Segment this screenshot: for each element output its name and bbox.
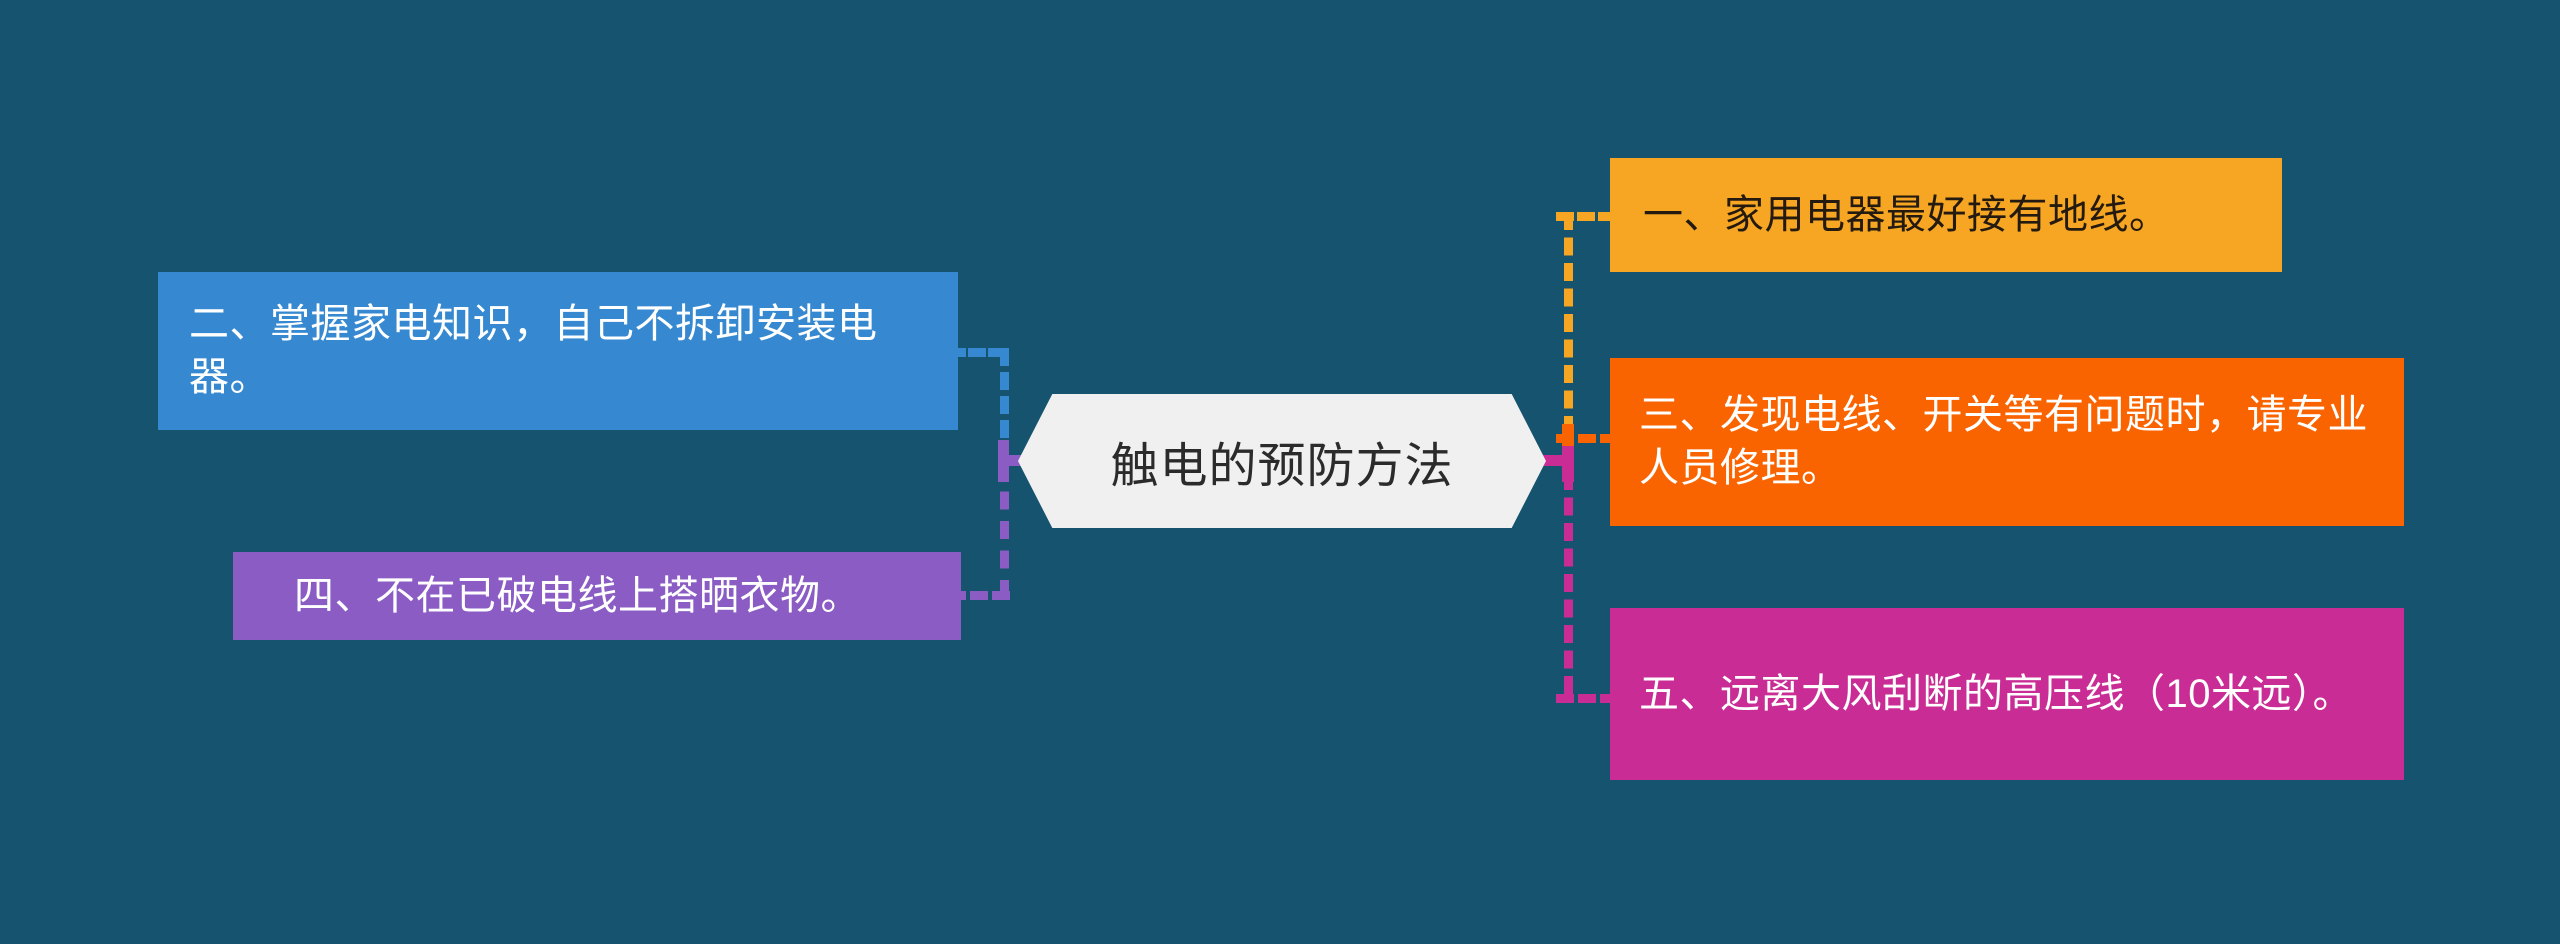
central-node-label: 触电的预防方法 xyxy=(1110,426,1453,496)
mindmap-canvas: 触电的预防方法 二、掌握家电知识，自己不拆卸安装电器。 四、不在已破电线上搭晒衣… xyxy=(0,0,2560,944)
connector-orange-horizontal xyxy=(1556,212,1616,221)
topic-label-orange: 一、家用电器最好接有地线。 xyxy=(1643,189,2257,242)
topic-box-orangered[interactable]: 三、发现电线、开关等有问题时，请专业人员修理。 xyxy=(1610,358,2404,526)
connector-orange-vertical xyxy=(1564,212,1573,434)
connector-magenta-horizontal xyxy=(1556,694,1618,703)
topic-label-blue: 二、掌握家电知识，自己不拆卸安装电器。 xyxy=(189,298,931,404)
central-node[interactable]: 触电的预防方法 xyxy=(1018,394,1546,528)
connector-purple-vertical xyxy=(1000,462,1009,598)
topic-box-orange[interactable]: 一、家用电器最好接有地线。 xyxy=(1610,158,2282,272)
topic-label-purple: 四、不在已破电线上搭晒衣物。 xyxy=(294,570,934,623)
connector-orange-trunk-cap xyxy=(1562,430,1574,446)
topic-box-blue[interactable]: 二、掌握家电知识，自己不拆卸安装电器。 xyxy=(158,272,958,430)
topic-label-magenta: 五、远离大风刮断的高压线（10米远）。 xyxy=(1639,668,2379,721)
topic-box-purple[interactable]: 四、不在已破电线上搭晒衣物。 xyxy=(233,552,961,640)
connector-magenta-vertical xyxy=(1564,472,1573,694)
topic-label-orangered: 三、发现电线、开关等有问题时，请专业人员修理。 xyxy=(1639,389,2379,495)
topic-box-magenta[interactable]: 五、远离大风刮断的高压线（10米远）。 xyxy=(1610,608,2404,780)
connector-hub-left-cap xyxy=(998,440,1009,482)
connector-hub-right-cap xyxy=(1562,440,1574,482)
